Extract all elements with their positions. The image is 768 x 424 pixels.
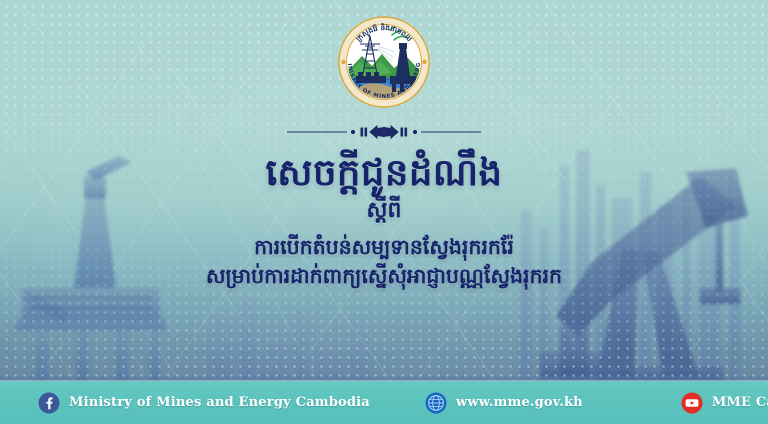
title-line-1: ការបើកតំបន់សម្បទានស្វែងរុករករ៉ែ <box>0 233 768 262</box>
ministry-emblem-logo: ក្រសួងរ៉ែ និងថាមពល MINISTRY OF MINES AND… <box>338 16 430 108</box>
footer-label-website: www.mme.gov.kh <box>456 395 583 410</box>
footer-label-youtube: MME Cambodia <box>712 395 768 410</box>
footer-item-facebook[interactable]: Ministry of Mines and Energy Cambodia <box>38 392 370 414</box>
footer-item-youtube[interactable]: MME Cambodia <box>681 392 768 414</box>
page-title: សេចក្តីជូនដំណឹង <box>0 152 768 193</box>
footer-label-facebook: Ministry of Mines and Energy Cambodia <box>69 395 370 410</box>
title-preposition: ស្ដីពី <box>0 197 768 225</box>
facebook-icon[interactable] <box>38 392 60 414</box>
footer-bar: Ministry of Mines and Energy Cambodia ww… <box>0 381 768 424</box>
announcement-poster: ក្រសួងរ៉ែ និងថាមពល MINISTRY OF MINES AND… <box>0 0 768 424</box>
title-block: សេចក្តីជូនដំណឹង ស្ដីពី ការបើកតំបន់សម្បទា… <box>0 152 768 291</box>
youtube-icon[interactable] <box>681 392 703 414</box>
globe-icon[interactable] <box>425 392 447 414</box>
ornamental-divider <box>269 120 499 144</box>
footer-item-website[interactable]: www.mme.gov.kh <box>425 392 583 414</box>
poster-content: ក្រសួងរ៉ែ និងថាមពល MINISTRY OF MINES AND… <box>0 0 768 424</box>
title-line-2: សម្រាប់ការដាក់ពាក្យស្នើសុំអាជ្ញាបណ្ណស្វែ… <box>0 262 768 291</box>
